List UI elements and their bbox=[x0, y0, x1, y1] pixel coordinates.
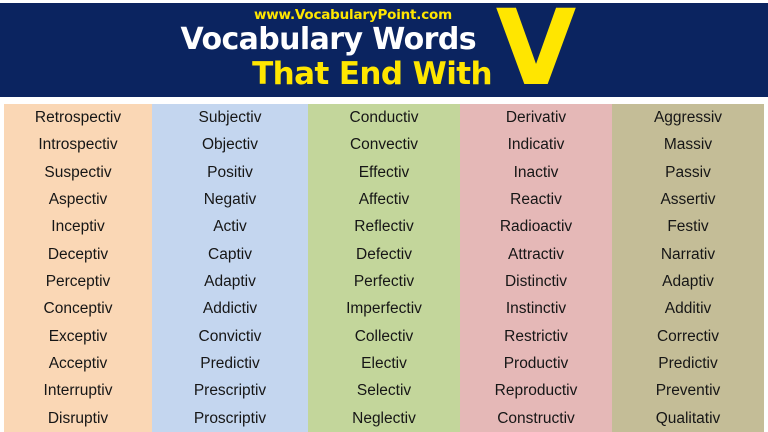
word-cell: Addictiv bbox=[152, 295, 308, 322]
vocabulary-poster: www.VocabularyPoint.com Vocabulary Words… bbox=[0, 0, 768, 432]
header-banner: www.VocabularyPoint.com Vocabulary Words… bbox=[0, 3, 768, 97]
word-cell: Aspectiv bbox=[4, 186, 152, 213]
word-cell: Reactiv bbox=[460, 186, 612, 213]
word-cell: Convictiv bbox=[152, 323, 308, 350]
word-cell: Additiv bbox=[612, 295, 764, 322]
word-cell: Radioactiv bbox=[460, 213, 612, 240]
word-cell: Conceptiv bbox=[4, 295, 152, 322]
word-cell: Negativ bbox=[152, 186, 308, 213]
word-cell: Effectiv bbox=[308, 159, 460, 186]
word-cell: Conductiv bbox=[308, 104, 460, 131]
word-cell: Convectiv bbox=[308, 131, 460, 158]
word-cell: Acceptiv bbox=[4, 350, 152, 377]
word-cell: Narrativ bbox=[612, 241, 764, 268]
word-cell: Affectiv bbox=[308, 186, 460, 213]
word-cell: Collectiv bbox=[308, 323, 460, 350]
word-cell: Restrictiv bbox=[460, 323, 612, 350]
word-cell: Electiv bbox=[308, 350, 460, 377]
word-cell: Attractiv bbox=[460, 241, 612, 268]
word-cell: Adaptiv bbox=[152, 268, 308, 295]
word-cell: Activ bbox=[152, 213, 308, 240]
word-column-3: ConductivConvectivEffectivAffectivReflec… bbox=[308, 104, 460, 432]
word-cell: Preventiv bbox=[612, 377, 764, 404]
word-column-5: AggressivMassivPassivAssertivFestivNarra… bbox=[612, 104, 764, 432]
page-title-line-1: Vocabulary Words bbox=[0, 25, 768, 55]
word-cell: Defectiv bbox=[308, 241, 460, 268]
word-cell: Perfectiv bbox=[308, 268, 460, 295]
word-cell: Interruptiv bbox=[4, 377, 152, 404]
word-cell: Inceptiv bbox=[4, 213, 152, 240]
word-cell: Constructiv bbox=[460, 405, 612, 432]
word-cell: Passiv bbox=[612, 159, 764, 186]
word-column-2: SubjectivObjectivPositivNegativActivCapt… bbox=[152, 104, 308, 432]
word-cell: Inactiv bbox=[460, 159, 612, 186]
word-cell: Prescriptiv bbox=[152, 377, 308, 404]
word-cell: Retrospectiv bbox=[4, 104, 152, 131]
word-cell: Predictiv bbox=[612, 350, 764, 377]
word-cell: Captiv bbox=[152, 241, 308, 268]
word-cell: Adaptiv bbox=[612, 268, 764, 295]
page-title-line-2: That End With bbox=[0, 59, 768, 90]
word-cell: Predictiv bbox=[152, 350, 308, 377]
word-cell: Qualitativ bbox=[612, 405, 764, 432]
word-column-1: RetrospectivIntrospectivSuspectivAspecti… bbox=[4, 104, 152, 432]
word-cell: Distinctiv bbox=[460, 268, 612, 295]
word-cell: Reflectiv bbox=[308, 213, 460, 240]
word-cell: Neglectiv bbox=[308, 405, 460, 432]
word-cell: Indicativ bbox=[460, 131, 612, 158]
word-cell: Reproductiv bbox=[460, 377, 612, 404]
word-cell: Positiv bbox=[152, 159, 308, 186]
word-cell: Suspectiv bbox=[4, 159, 152, 186]
word-cell: Introspectiv bbox=[4, 131, 152, 158]
word-cell: Derivativ bbox=[460, 104, 612, 131]
word-grid: RetrospectivIntrospectivSuspectivAspecti… bbox=[4, 104, 764, 432]
word-cell: Objectiv bbox=[152, 131, 308, 158]
word-cell: Instinctiv bbox=[460, 295, 612, 322]
word-cell: Subjectiv bbox=[152, 104, 308, 131]
word-cell: Imperfectiv bbox=[308, 295, 460, 322]
word-cell: Selectiv bbox=[308, 377, 460, 404]
word-cell: Assertiv bbox=[612, 186, 764, 213]
word-cell: Proscriptiv bbox=[152, 405, 308, 432]
word-cell: Festiv bbox=[612, 213, 764, 240]
word-cell: Exceptiv bbox=[4, 323, 152, 350]
word-cell: Massiv bbox=[612, 131, 764, 158]
word-cell: Correctiv bbox=[612, 323, 764, 350]
word-cell: Aggressiv bbox=[612, 104, 764, 131]
word-cell: Disruptiv bbox=[4, 405, 152, 432]
word-cell: Deceptiv bbox=[4, 241, 152, 268]
word-cell: Perceptiv bbox=[4, 268, 152, 295]
word-column-4: DerivativIndicativInactivReactivRadioact… bbox=[460, 104, 612, 432]
site-url-text: www.VocabularyPoint.com bbox=[0, 7, 768, 23]
word-cell: Productiv bbox=[460, 350, 612, 377]
big-letter-v: V bbox=[489, 3, 581, 97]
